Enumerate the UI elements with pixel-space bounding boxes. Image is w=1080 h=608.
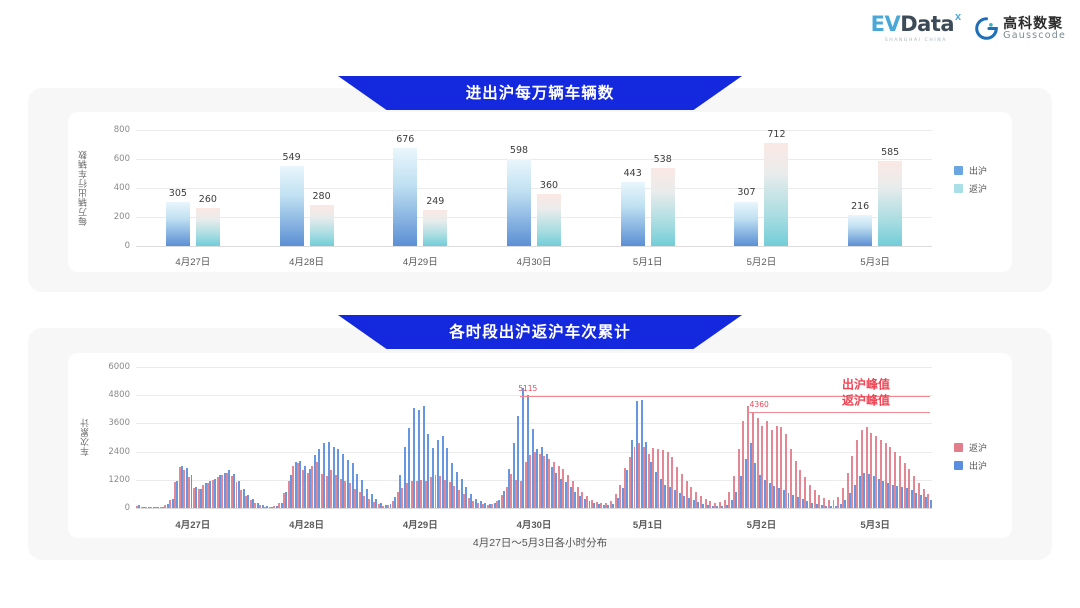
chart-card-daily: 每万辆出行车辆数02004006008003052604月27日5492804月…	[28, 88, 1052, 292]
chart-daily-legend: 出沪返沪	[954, 164, 987, 195]
chart-daily-bar-out	[734, 202, 758, 247]
chart-hourly-ytick: 4800	[98, 390, 130, 400]
chart-hourly-gridline	[136, 367, 932, 368]
chart-daily-value-out: 598	[510, 145, 528, 156]
chart-daily-bar-out	[280, 166, 304, 246]
chart-hourly-xtick: 4月30日	[517, 517, 552, 531]
chart-hourly-peak-value-back: 4360	[750, 400, 769, 409]
legend-swatch-icon	[954, 166, 963, 175]
chart-hourly-ytick: 1200	[98, 475, 130, 485]
chart-daily-ylabel: 每万辆出行车辆数	[76, 130, 89, 246]
chart-daily-xtick: 5月2日	[747, 254, 777, 268]
gausscode-logo: 高科数聚 Gausscode	[975, 16, 1066, 41]
chart-daily-value-back: 712	[767, 129, 785, 140]
legend-swatch-icon	[954, 443, 963, 452]
chart-daily-bar-back	[878, 161, 902, 246]
chart-hourly-ytick: 3600	[98, 418, 130, 428]
chart-hourly-xtick: 4月27日	[175, 517, 210, 531]
legend-swatch-icon	[954, 461, 963, 470]
chart-daily-xtick: 4月30日	[517, 254, 552, 268]
gausscode-logo-en: Gausscode	[1003, 31, 1066, 41]
slide-root: EVDatax SHANGHAI CHINA 高科数聚 Gausscode 每万…	[0, 0, 1080, 608]
chart-hourly-gridline	[136, 508, 932, 509]
evdata-logo-superscript: x	[955, 12, 961, 23]
chart-daily-bar-back	[310, 205, 334, 246]
chart-hourly-xtick: 4月29日	[403, 517, 438, 531]
chart-hourly-ytick: 2400	[98, 447, 130, 457]
chart-hourly-legend-label: 出沪	[969, 459, 987, 472]
chart-daily-gridline	[136, 188, 932, 189]
chart-daily-value-out: 549	[282, 152, 300, 163]
chart-hourly: 车次累计0120024003600480060004月27日4月28日4月29日…	[68, 353, 1012, 538]
chart-daily-value-out: 676	[396, 134, 414, 145]
chart-hourly-bar-out	[930, 500, 932, 508]
chart-card-hourly: 车次累计0120024003600480060004月27日4月28日4月29日…	[28, 328, 1052, 560]
chart-hourly-xtick: 5月1日	[633, 517, 663, 531]
chart-daily-value-out: 307	[737, 187, 755, 198]
chart-daily-gridline	[136, 246, 932, 247]
legend-swatch-icon	[954, 184, 963, 193]
chart-daily-bar-out	[507, 159, 531, 246]
chart-hourly-peak-value-out: 5115	[518, 384, 537, 393]
chart-hourly-peak-label-back: 返沪峰值	[842, 391, 890, 408]
chart-daily-value-back: 280	[312, 191, 330, 202]
chart-daily-bar-out	[621, 182, 645, 246]
chart-daily-ytick: 200	[100, 212, 130, 222]
chart-daily-value-out: 216	[851, 201, 869, 212]
chart-panel-hourly: 车次累计0120024003600480060004月27日4月28日4月29日…	[68, 353, 1012, 538]
chart-daily-legend-item[interactable]: 出沪	[954, 164, 987, 177]
chart-daily-ytick: 400	[100, 183, 130, 193]
evdata-logo-data: Data	[900, 14, 954, 35]
gausscode-mark-icon	[975, 17, 998, 40]
chart-daily-xtick: 5月3日	[860, 254, 890, 268]
chart-daily-bar-back	[196, 208, 220, 246]
chart-daily-gridline	[136, 130, 932, 131]
chart-daily-legend-label: 出沪	[969, 164, 987, 177]
chart-daily-bar-back	[423, 210, 447, 246]
chart-hourly-legend-item[interactable]: 返沪	[954, 441, 987, 454]
chart-hourly-ytick: 0	[98, 503, 130, 513]
chart-caption-hourly: 4月27日～5月3日各小时分布	[28, 535, 1052, 550]
chart-daily-value-back: 360	[540, 180, 558, 191]
chart-daily-legend-label: 返沪	[969, 182, 987, 195]
chart-hourly-peak-line-back	[747, 412, 930, 413]
evdata-logo: EVDatax SHANGHAI CHINA	[871, 14, 962, 43]
chart-hourly-gridline	[136, 423, 932, 424]
chart-hourly-ylabel: 车次累计	[78, 367, 91, 508]
chart-daily-value-back: 249	[426, 196, 444, 207]
chart-daily-gridline	[136, 159, 932, 160]
chart-title-daily: 进出沪每万辆车辆数	[466, 81, 615, 105]
chart-daily-xtick: 4月28日	[289, 254, 324, 268]
chart-daily-value-out: 305	[169, 188, 187, 199]
chart-daily-value-back: 585	[881, 147, 899, 158]
chart-daily-bar-out	[166, 202, 190, 246]
chart-hourly-legend-label: 返沪	[969, 441, 987, 454]
chart-hourly-legend: 返沪出沪	[954, 441, 987, 472]
chart-hourly-xtick: 4月28日	[289, 517, 324, 531]
chart-daily-value-back: 538	[654, 154, 672, 165]
chart-daily-bar-out	[393, 148, 417, 246]
chart-daily-legend-item[interactable]: 返沪	[954, 182, 987, 195]
chart-title-hourly: 各时段出沪返沪车次累计	[449, 320, 631, 344]
chart-hourly-legend-item[interactable]: 出沪	[954, 459, 987, 472]
chart-daily-bar-back	[764, 143, 788, 246]
chart-hourly-xtick: 5月2日	[747, 517, 777, 531]
chart-daily-gridline	[136, 217, 932, 218]
chart-daily-xtick: 4月27日	[175, 254, 210, 268]
gausscode-logo-cn: 高科数聚	[1003, 16, 1066, 31]
chart-daily-xtick: 5月1日	[633, 254, 663, 268]
chart-daily-bar-out	[848, 215, 872, 246]
chart-title-banner-hourly: 各时段出沪返沪车次累计	[338, 315, 742, 349]
evdata-logo-ev: EV	[871, 14, 901, 35]
chart-hourly-peak-label-out: 出沪峰值	[842, 375, 890, 392]
chart-daily-value-out: 443	[624, 168, 642, 179]
chart-daily-bar-back	[537, 194, 561, 246]
chart-title-banner-daily: 进出沪每万辆车辆数	[338, 76, 742, 110]
chart-daily-ytick: 600	[100, 154, 130, 164]
chart-daily-xtick: 4月29日	[403, 254, 438, 268]
header-logos: EVDatax SHANGHAI CHINA 高科数聚 Gausscode	[871, 14, 1066, 43]
chart-daily-ytick: 0	[100, 241, 130, 251]
chart-hourly-xtick: 5月3日	[860, 517, 890, 531]
chart-daily: 每万辆出行车辆数02004006008003052604月27日5492804月…	[68, 112, 1012, 272]
evdata-logo-subtitle: SHANGHAI CHINA	[885, 38, 947, 43]
chart-daily-ytick: 800	[100, 125, 130, 135]
chart-daily-bar-back	[651, 168, 675, 246]
chart-panel-daily: 每万辆出行车辆数02004006008003052604月27日5492804月…	[68, 112, 1012, 272]
chart-daily-value-back: 260	[199, 194, 217, 205]
chart-hourly-ytick: 6000	[98, 362, 130, 372]
